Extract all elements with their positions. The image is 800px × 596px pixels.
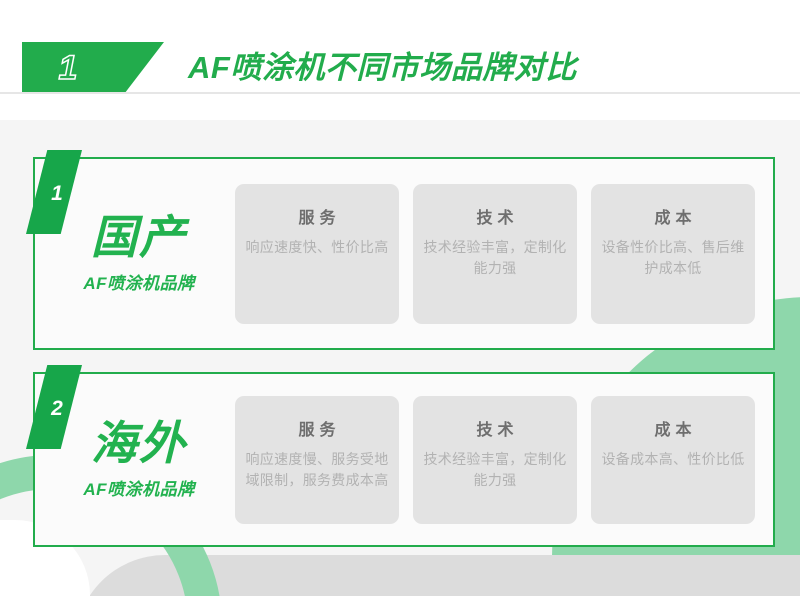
fact-box-service: 服务 响应速度快、性价比高 [235, 184, 399, 324]
fact-box-technology: 技术 技术经验丰富，定制化能力强 [413, 396, 577, 524]
header-index-number: 1 [44, 46, 92, 90]
fact-box-technology: 技术 技术经验丰富，定制化能力强 [413, 184, 577, 324]
slide-header: 1 AF喷涂机不同市场品牌对比 [0, 42, 800, 94]
slide-canvas: 1 AF喷涂机不同市场品牌对比 1 国产 AF喷涂机品牌 服务 响应速度快、性价… [0, 0, 800, 596]
fact-description: 设备成本高、性价比低 [601, 449, 745, 471]
header-divider [0, 92, 800, 94]
fact-title: 成本 [601, 416, 745, 440]
fact-description: 响应速度快、性价比高 [245, 237, 389, 259]
brand-name: 国产 [43, 213, 235, 263]
fact-title: 成本 [601, 204, 745, 228]
fact-box-group: 服务 响应速度快、性价比高 技术 技术经验丰富，定制化能力强 成本 设备性价比高… [235, 184, 759, 324]
fact-title: 服务 [245, 416, 389, 440]
fact-box-service: 服务 响应速度慢、服务受地域限制，服务费成本高 [235, 396, 399, 524]
comparison-card-overseas: 2 海外 AF喷涂机品牌 服务 响应速度慢、服务受地域限制，服务费成本高 技术 … [33, 372, 775, 547]
page-title: AF喷涂机不同市场品牌对比 [188, 45, 577, 91]
fact-box-cost: 成本 设备性价比高、售后维护成本低 [591, 184, 755, 324]
fact-box-group: 服务 响应速度慢、服务受地域限制，服务费成本高 技术 技术经验丰富，定制化能力强… [235, 396, 759, 524]
comparison-card-domestic: 1 国产 AF喷涂机品牌 服务 响应速度快、性价比高 技术 技术经验丰富，定制化… [33, 157, 775, 350]
fact-title: 服务 [245, 204, 389, 228]
fact-description: 技术经验丰富，定制化能力强 [423, 237, 567, 280]
fact-box-cost: 成本 设备成本高、性价比低 [591, 396, 755, 524]
fact-description: 技术经验丰富，定制化能力强 [423, 449, 567, 492]
fact-title: 技术 [423, 416, 567, 440]
fact-description: 响应速度慢、服务受地域限制，服务费成本高 [245, 449, 389, 492]
fact-description: 设备性价比高、售后维护成本低 [601, 237, 745, 280]
fact-title: 技术 [423, 204, 567, 228]
card-index-number: 2 [31, 394, 83, 424]
brand-subtitle: AF喷涂机品牌 [43, 475, 235, 500]
brand-subtitle: AF喷涂机品牌 [43, 269, 235, 294]
brand-name: 海外 [43, 419, 235, 469]
card-index-number: 1 [31, 179, 83, 209]
brand-label-group: 国产 AF喷涂机品牌 [35, 213, 235, 294]
